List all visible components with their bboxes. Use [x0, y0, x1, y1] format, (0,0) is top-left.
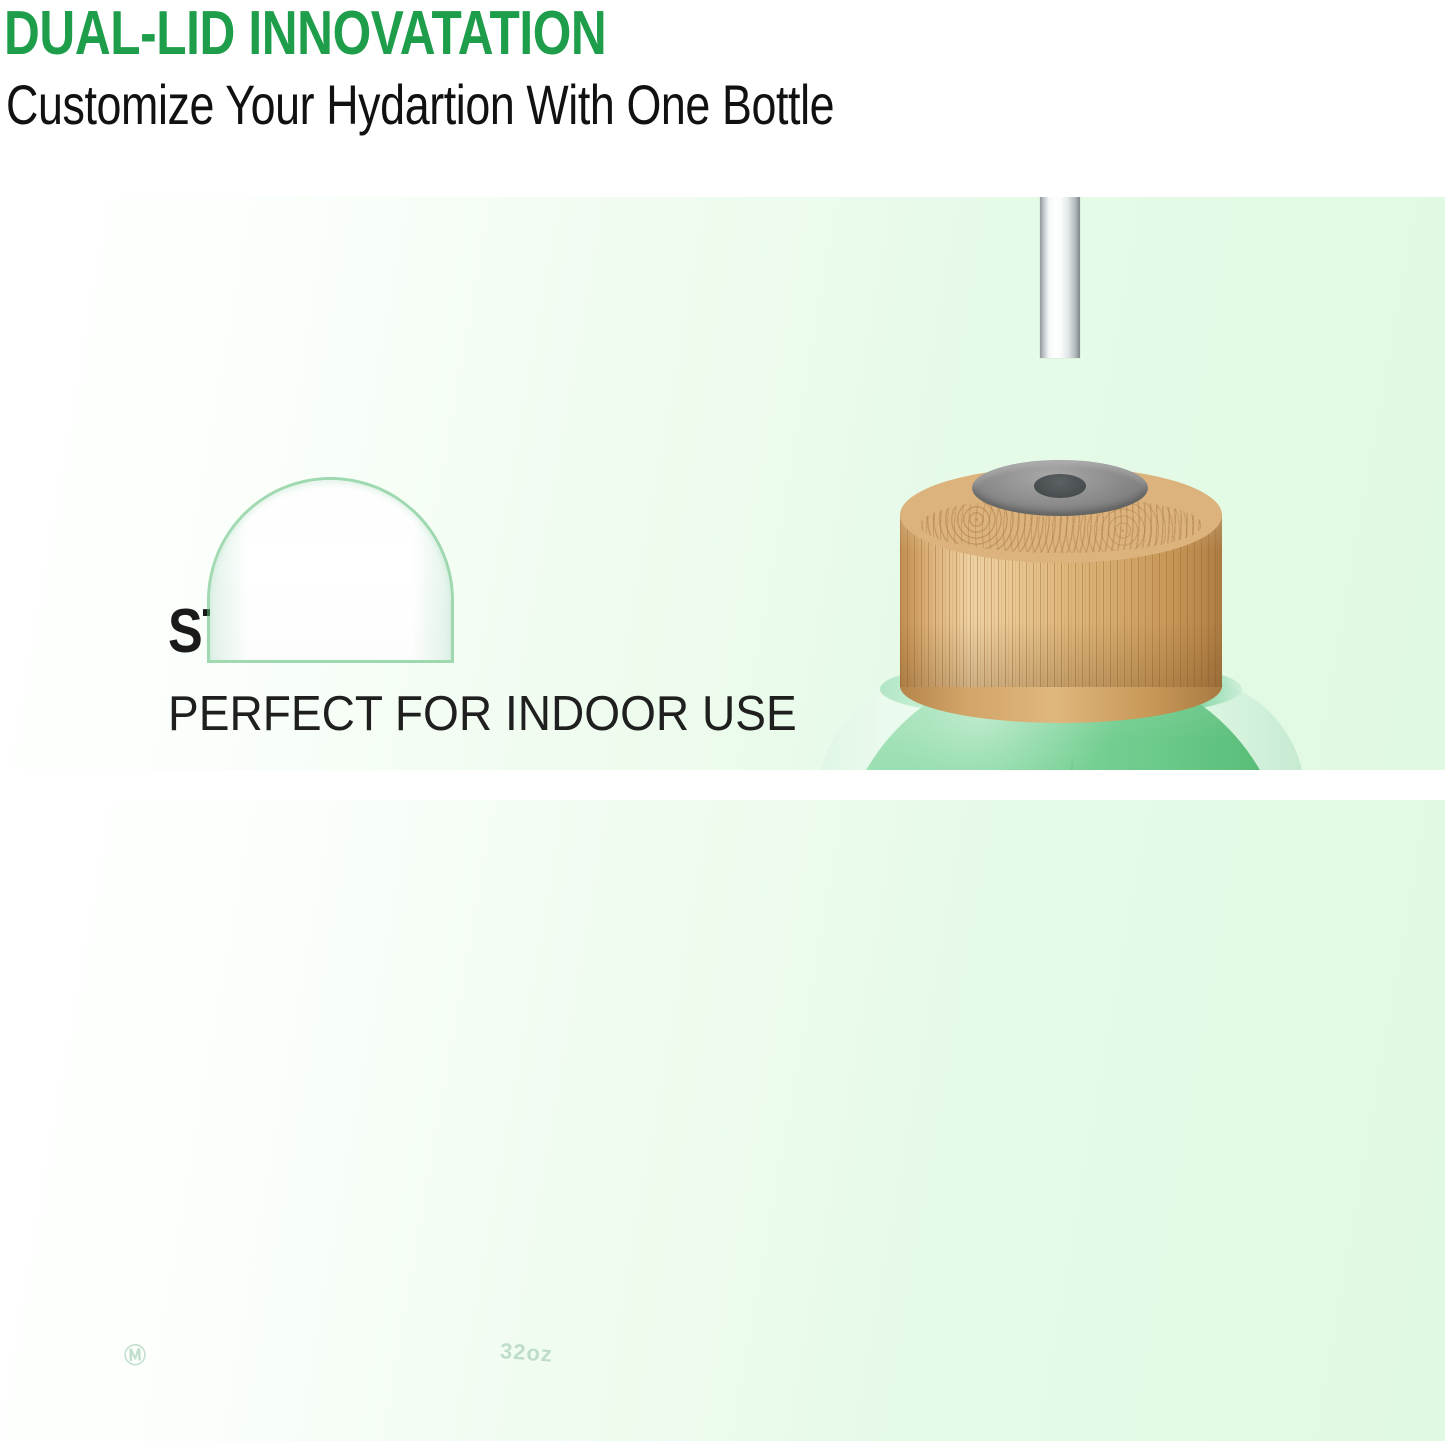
silicone-sleeve-seam	[1071, 753, 1073, 770]
page-footer-strip	[0, 1441, 1445, 1452]
gasket-straw-hole	[1034, 474, 1086, 498]
sleeve-emboss-right: 32oz	[499, 1338, 554, 1368]
header-banner: DUAL-LID INNOVATATION Customize Your Hyd…	[0, 0, 1445, 197]
sleeve-emboss-left: Ⓜ	[123, 1337, 148, 1370]
page-title: DUAL-LID INNOVATATION	[4, 2, 606, 66]
panel-straw-lid: STRAW LID PERFECT FOR INDOOR USE	[0, 197, 1445, 770]
panel-background-gradient	[0, 800, 1445, 1441]
panel-bamboo-strap-lid: ON THE GO BAMBOO STRAP LID LEAKPROOF DES…	[0, 800, 1445, 1441]
straw-lid-subheading: PERFECT FOR INDOOR USE	[168, 687, 797, 741]
drinking-straw	[1040, 197, 1080, 358]
page-subtitle: Customize Your Hydartion With One Bottle	[6, 76, 834, 134]
panel-divider	[0, 770, 1445, 800]
